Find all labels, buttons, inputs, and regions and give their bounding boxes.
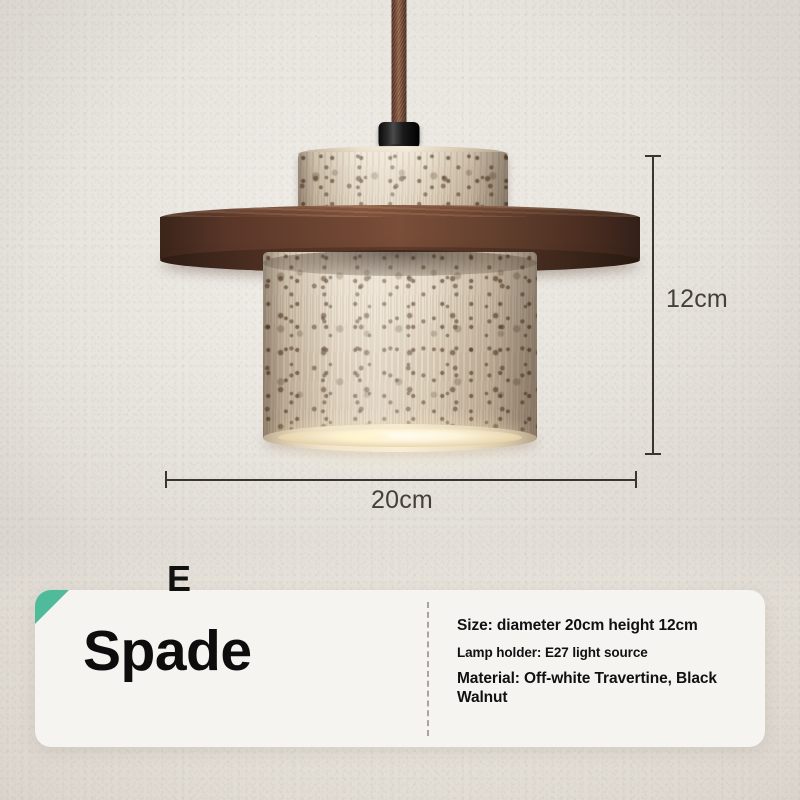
shade-body-shading	[263, 252, 537, 440]
height-dimension-tick-top	[645, 155, 661, 157]
width-dimension-tick-right	[635, 471, 637, 488]
product-spec-list: Size: diameter 20cm height 12cm Lamp hol…	[457, 616, 745, 708]
width-dimension-line	[165, 479, 637, 481]
corner-accent-triangle-icon	[35, 590, 69, 624]
cord-icon	[392, 0, 407, 132]
card-dashed-divider	[427, 602, 429, 736]
spec-material: Material: Off-white Travertine, Black Wa…	[457, 669, 745, 708]
height-dimension-line	[652, 155, 654, 455]
height-dimension-label: 12cm	[666, 285, 728, 314]
product-info-card: Spade Size: diameter 20cm height 12cm La…	[35, 590, 765, 747]
product-photo-scene: 12cm 20cm E Spade Size: diameter 20cm he…	[0, 0, 800, 800]
spec-lamp-holder: Lamp holder: E27 light source	[457, 645, 745, 661]
travertine-shade-body	[263, 252, 537, 440]
variant-letter-badge: E	[167, 558, 192, 600]
width-dimension-tick-left	[165, 471, 167, 488]
shade-top-shadow	[263, 250, 537, 276]
pendant-lamp	[0, 0, 800, 560]
product-name: Spade	[83, 623, 252, 680]
lamp-glow-spill	[268, 440, 532, 474]
width-dimension-label: 20cm	[371, 486, 433, 515]
height-dimension-tick-bottom	[645, 453, 661, 455]
spec-size: Size: diameter 20cm height 12cm	[457, 616, 745, 635]
